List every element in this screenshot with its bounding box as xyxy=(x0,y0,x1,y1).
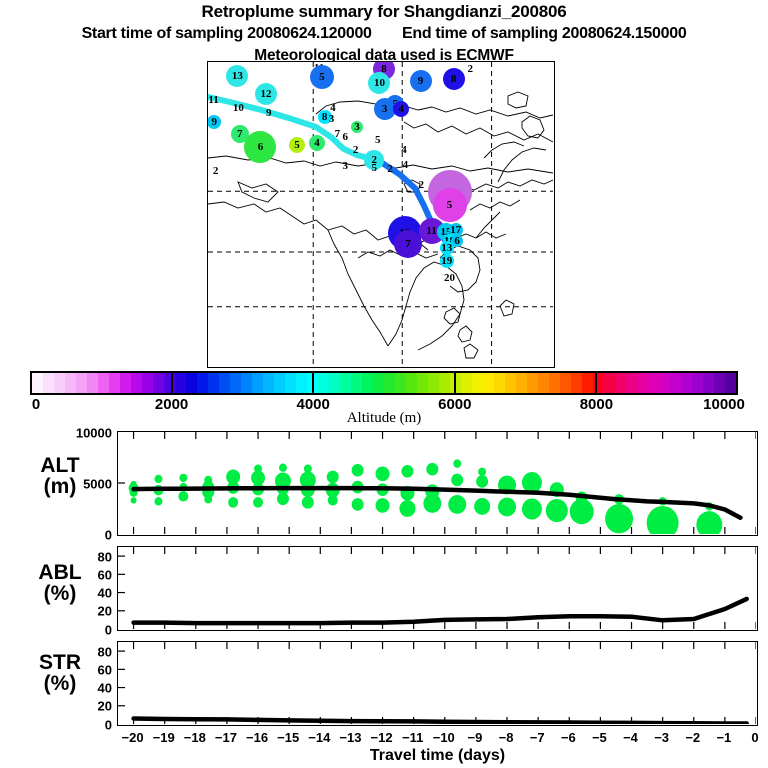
x-axis-tick-label: −4 xyxy=(623,730,638,745)
colorbar-swatch xyxy=(76,373,87,393)
x-axis-tick-label: −13 xyxy=(339,730,361,745)
y-axis-tick-label: 0 xyxy=(105,717,112,732)
retroplume-marker-label: 4 xyxy=(401,144,407,156)
colorbar-separator xyxy=(312,371,314,395)
y-axis-tick-label: 80 xyxy=(98,644,112,659)
colorbar-swatch xyxy=(186,373,197,393)
colorbar-swatch xyxy=(142,373,153,393)
colorbar-swatch xyxy=(219,373,230,393)
page-title: Retroplume summary for Shangdianzi_20080… xyxy=(0,2,768,22)
x-axis-tick-label: −5 xyxy=(592,730,607,745)
colorbar-swatch xyxy=(230,373,241,393)
x-axis-tick-label: −12 xyxy=(371,730,393,745)
retroplume-marker-label: 7 xyxy=(405,238,411,250)
colorbar-swatch xyxy=(395,373,406,393)
colorbar-swatch xyxy=(439,373,450,393)
retroplume-marker-label: 4 xyxy=(398,103,404,115)
str-row-label: STR (%) xyxy=(8,652,112,695)
y-axis-tick-label: 5000 xyxy=(83,476,112,491)
x-axis-tick-label: −15 xyxy=(277,730,299,745)
colorbar-swatch xyxy=(604,373,615,393)
y-axis-tick-label: 10000 xyxy=(76,425,112,440)
colorbar-swatch xyxy=(692,373,703,393)
y-axis-tick-label: 20 xyxy=(98,699,112,714)
colorbar-swatch xyxy=(582,373,593,393)
retroplume-marker-label: 3 xyxy=(343,160,349,172)
colorbar-swatch xyxy=(494,373,505,393)
retroplume-marker-label: 2 xyxy=(353,144,359,156)
retroplume-marker-label: 8 xyxy=(322,111,328,123)
colorbar-title: Altitude (m) xyxy=(0,410,768,427)
retroplume-marker-label: 3 xyxy=(329,113,335,125)
colorbar-separator xyxy=(171,371,173,395)
colorbar-swatch xyxy=(670,373,681,393)
x-axis-tick-label: 0 xyxy=(751,730,758,745)
colorbar-swatch xyxy=(54,373,65,393)
y-axis-tick-label: 0 xyxy=(105,622,112,637)
x-axis-tick-label: −8 xyxy=(499,730,514,745)
colorbar-swatch xyxy=(615,373,626,393)
y-axis-tick-label: 20 xyxy=(98,604,112,619)
retroplume-marker-label: 11 xyxy=(426,225,436,237)
colorbar-swatch xyxy=(714,373,725,393)
x-axis-tick-label: −2 xyxy=(685,730,700,745)
retroplume-marker-label: 13 xyxy=(232,70,243,82)
retroplume-marker-label: 7 xyxy=(335,128,341,140)
colorbar-swatch xyxy=(648,373,659,393)
colorbar-swatch xyxy=(197,373,208,393)
x-axis-tick-label: −11 xyxy=(402,730,423,745)
retroplume-marker-label: 5 xyxy=(294,139,300,151)
colorbar-swatch xyxy=(87,373,98,393)
alt-series xyxy=(118,432,756,534)
retroplume-marker-label: 8 xyxy=(451,73,457,85)
colorbar-swatch xyxy=(318,373,329,393)
end-time-label: End time of sampling 20080624.150000 xyxy=(402,25,686,42)
colorbar-swatch xyxy=(285,373,296,393)
colorbar-swatch xyxy=(120,373,131,393)
retroplume-marker-label: 9 xyxy=(266,107,272,119)
colorbar-swatch xyxy=(428,373,439,393)
x-axis-tick-label: −6 xyxy=(561,730,576,745)
retroplume-marker-label: 12 xyxy=(260,88,271,100)
colorbar-swatch xyxy=(208,373,219,393)
x-axis-tick-label: −19 xyxy=(153,730,175,745)
colorbar-swatch xyxy=(109,373,120,393)
colorbar-swatch xyxy=(373,373,384,393)
x-axis-tick-label: −7 xyxy=(530,730,545,745)
colorbar-swatch xyxy=(384,373,395,393)
colorbar-swatch xyxy=(362,373,373,393)
retroplume-marker-label: 4 xyxy=(403,159,409,171)
colorbar-swatch xyxy=(351,373,362,393)
x-axis-title: Travel time (days) xyxy=(117,747,758,765)
str-plot[interactable] xyxy=(117,641,758,726)
x-axis-tick-label: −1 xyxy=(716,730,731,745)
colorbar-separator xyxy=(595,371,597,395)
colorbar-swatch xyxy=(725,373,736,393)
colorbar-swatch xyxy=(681,373,692,393)
colorbar-swatch xyxy=(406,373,417,393)
x-axis-tick-label: −18 xyxy=(184,730,206,745)
retroplume-marker-label: 2 xyxy=(467,63,473,75)
colorbar-swatch xyxy=(516,373,527,393)
colorbar-swatch xyxy=(659,373,670,393)
colorbar-swatch xyxy=(274,373,285,393)
colorbar-swatch xyxy=(538,373,549,393)
y-axis-tick-label: 0 xyxy=(105,527,112,542)
str-series xyxy=(118,642,756,724)
x-axis-tick-label: −17 xyxy=(215,730,237,745)
retroplume-marker-label: 11 xyxy=(208,94,218,106)
colorbar-swatch xyxy=(153,373,164,393)
x-axis-tick-label: −3 xyxy=(654,730,669,745)
colorbar-swatch xyxy=(340,373,351,393)
colorbar-swatch xyxy=(560,373,571,393)
colorbar-swatch xyxy=(65,373,76,393)
start-time-label: Start time of sampling 20080624.120000 xyxy=(82,25,372,42)
retroplume-marker-label: 7 xyxy=(237,128,243,140)
retroplume-marker-label: 2 xyxy=(418,179,424,191)
retroplume-marker-label: 9 xyxy=(418,75,424,87)
x-axis-tick-label: −16 xyxy=(246,730,268,745)
abl-row-label: ABL (%) xyxy=(8,562,112,605)
abl-series xyxy=(118,547,756,629)
colorbar-swatch xyxy=(417,373,428,393)
colorbar-swatch xyxy=(98,373,109,393)
retroplume-marker-label: 13 xyxy=(441,242,452,254)
retroplume-marker-label: 5 xyxy=(375,134,381,146)
x-axis-tick-label: −20 xyxy=(122,730,144,745)
colorbar-swatch xyxy=(527,373,538,393)
sampling-time-row: Start time of sampling 20080624.120000 E… xyxy=(0,25,768,43)
y-axis-tick-label: 60 xyxy=(98,662,112,677)
x-axis-tick-label: −14 xyxy=(308,730,330,745)
colorbar-swatch xyxy=(461,373,472,393)
colorbar-swatch xyxy=(703,373,714,393)
y-axis-tick-label: 60 xyxy=(98,567,112,582)
colorbar-swatch xyxy=(505,373,516,393)
y-axis-tick-label: 40 xyxy=(98,586,112,601)
x-axis-tick-label: −10 xyxy=(433,730,455,745)
retroplume-marker-label: 9 xyxy=(211,116,217,128)
colorbar-swatch xyxy=(549,373,560,393)
colorbar-swatch xyxy=(329,373,340,393)
colorbar-swatch xyxy=(637,373,648,393)
retroplume-marker-label: 2 xyxy=(387,163,393,175)
colorbar-swatch xyxy=(472,373,483,393)
retroplume-marker-label: 6 xyxy=(454,235,460,247)
colorbar-separator xyxy=(454,371,456,395)
retroplume-marker-label: 10 xyxy=(233,102,244,114)
colorbar-swatch xyxy=(571,373,582,393)
retroplume-marker-label: 2 xyxy=(213,165,219,177)
retroplume-marker-label: 19 xyxy=(441,255,452,267)
retroplume-marker-label: 20 xyxy=(444,272,455,284)
colorbar-swatch xyxy=(483,373,494,393)
colorbar-swatch xyxy=(296,373,307,393)
alt-plot[interactable] xyxy=(117,431,758,536)
colorbar-swatch xyxy=(164,373,175,393)
retroplume-marker-label: 3 xyxy=(354,121,360,133)
altitude-colorbar xyxy=(30,371,738,395)
retroplume-marker-label: 10 xyxy=(374,77,385,89)
abl-plot[interactable] xyxy=(117,546,758,631)
colorbar-swatch xyxy=(43,373,54,393)
retroplume-marker-label: 4 xyxy=(314,137,320,149)
colorbar-swatch xyxy=(131,373,142,393)
retroplume-marker-label: 5 xyxy=(319,71,325,83)
retroplume-marker-label: 6 xyxy=(343,131,349,143)
retroplume-map[interactable]: 1312111099115810983544833765765424254322… xyxy=(207,61,555,368)
retroplume-marker-label: 6 xyxy=(258,141,264,153)
colorbar-swatch xyxy=(32,373,43,393)
colorbar-swatch xyxy=(263,373,274,393)
colorbar-swatch xyxy=(175,373,186,393)
retroplume-marker-label: 5 xyxy=(372,162,378,174)
retroplume-marker-label: 5 xyxy=(447,199,453,211)
colorbar-swatch xyxy=(241,373,252,393)
y-axis-tick-label: 80 xyxy=(98,549,112,564)
x-axis-tick-label: −9 xyxy=(467,730,482,745)
colorbar-swatch xyxy=(626,373,637,393)
colorbar-swatch xyxy=(252,373,263,393)
y-axis-tick-label: 40 xyxy=(98,681,112,696)
